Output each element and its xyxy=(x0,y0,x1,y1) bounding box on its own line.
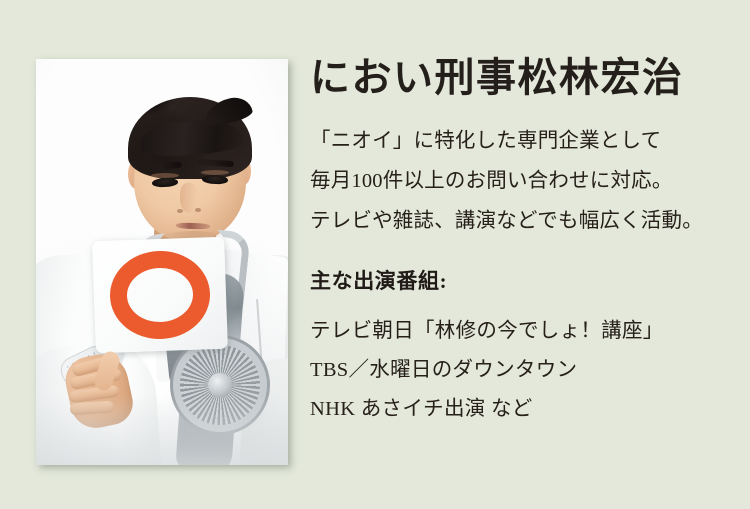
profile-card: におい刑事松林宏治 「ニオイ」に特化した専門企業として 毎月100件以上のお問い… xyxy=(0,0,750,509)
intro-line-2: 毎月100件以上のお問い合わせに対応。 xyxy=(310,161,730,201)
page-title: におい刑事松林宏治 xyxy=(310,56,730,99)
list-item: テレビ朝日「林修の今でしょ！講座」 xyxy=(310,312,730,351)
profile-photo-frame xyxy=(36,59,288,465)
intro-line-1: 「ニオイ」に特化した専門企業として xyxy=(310,121,730,161)
intro-line-3: テレビや雑誌、講演などでも幅広く活動。 xyxy=(310,201,730,241)
credits-list: テレビ朝日「林修の今でしょ！講座」 TBS／水曜日のダウンタウン NHK あさイ… xyxy=(310,312,730,429)
photo-backdrop-light xyxy=(36,395,288,465)
odor-sensor-hub xyxy=(208,373,232,397)
credits-heading: 主な出演番組: xyxy=(310,270,730,293)
nostril-left xyxy=(177,209,183,213)
intro-paragraph: 「ニオイ」に特化した専門企業として 毎月100件以上のお問い合わせに対応。 テレ… xyxy=(310,121,730,241)
profile-text-column: におい刑事松林宏治 「ニオイ」に特化した専門企業として 毎月100件以上のお問い… xyxy=(310,56,730,429)
nostril-right xyxy=(195,208,201,212)
list-item: TBS／水曜日のダウンタウン xyxy=(310,351,730,390)
list-item: NHK あさイチ出演 など xyxy=(310,390,730,429)
profile-photo xyxy=(36,59,288,465)
